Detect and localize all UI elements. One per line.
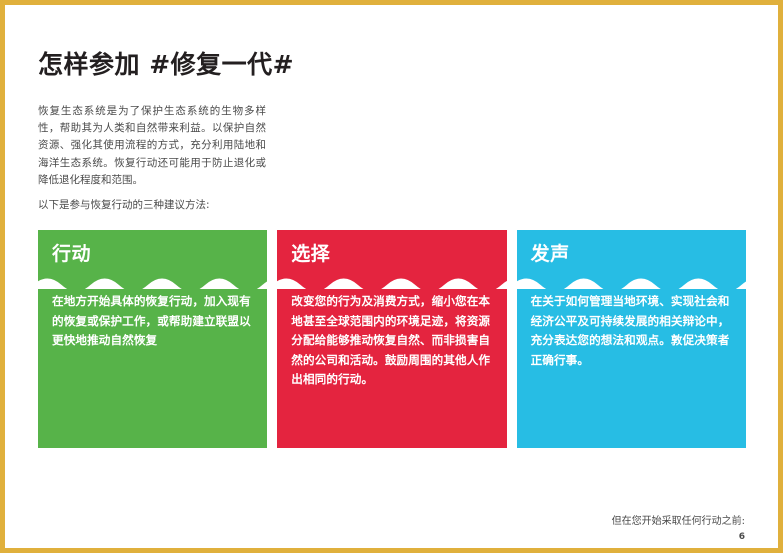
document-page: 怎样参加 #修复一代# 恢复生态系统是为了保护生态系统的生物多样性，帮助其为人类…	[0, 0, 783, 553]
footer-note: 但在您开始采取任何行动之前:	[612, 512, 745, 527]
page-number: 6	[739, 532, 745, 542]
card-speak-up-body: 在关于如何管理当地环境、实现社会和经济公平及可持续发展的相关辩论中，充分表达您的…	[531, 292, 734, 370]
lead-in-text: 以下是参与恢复行动的三种建议方法:	[38, 197, 338, 213]
card-choose: 选择 改变您的行为及消费方式，缩小您在本地甚至全球范围内的环境足迹，将资源分配给…	[277, 230, 506, 448]
wave-divider-icon	[38, 272, 267, 289]
card-act-body: 在地方开始具体的恢复行动，加入现有的恢复或保护工作，或帮助建立联盟以更快地推动自…	[52, 292, 255, 351]
page-title: 怎样参加 #修复一代#	[38, 45, 294, 81]
intro-paragraph: 恢复生态系统是为了保护生态系统的生物多样性，帮助其为人类和自然带来利益。以保护自…	[38, 103, 266, 190]
card-act: 行动 在地方开始具体的恢复行动，加入现有的恢复或保护工作，或帮助建立联盟以更快地…	[38, 230, 267, 448]
wave-divider-icon	[277, 272, 506, 289]
card-choose-title: 选择	[291, 239, 330, 266]
page-content: 怎样参加 #修复一代# 恢复生态系统是为了保护生态系统的生物多样性，帮助其为人类…	[0, 0, 783, 553]
card-speak-up: 发声 在关于如何管理当地环境、实现社会和经济公平及可持续发展的相关辩论中，充分表…	[517, 230, 746, 448]
card-choose-body: 改变您的行为及消费方式，缩小您在本地甚至全球范围内的环境足迹，将资源分配给能够推…	[291, 292, 494, 390]
wave-divider-icon	[517, 272, 746, 289]
card-act-title: 行动	[52, 239, 91, 266]
card-speak-up-title: 发声	[531, 239, 570, 266]
suggestion-cards-row: 行动 在地方开始具体的恢复行动，加入现有的恢复或保护工作，或帮助建立联盟以更快地…	[38, 230, 746, 448]
